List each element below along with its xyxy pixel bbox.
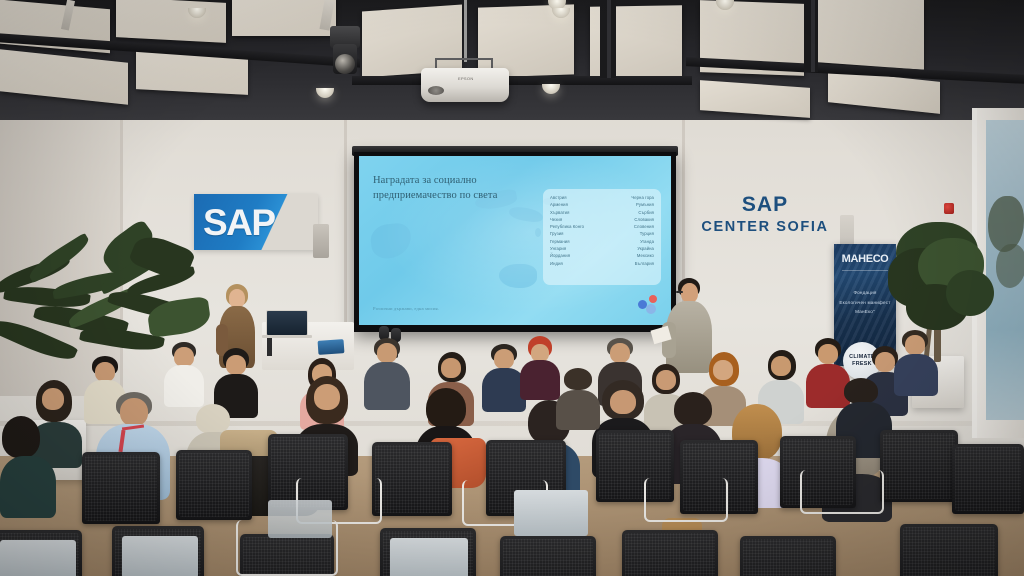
wall-signage-subtitle: CENTER SOFIA	[690, 219, 840, 235]
fire-alarm-icon	[944, 203, 954, 214]
chair-mesh	[179, 453, 249, 517]
stage-light-lens	[335, 54, 355, 74]
slide-footer-text: Различни държави, една мисия.	[373, 306, 439, 311]
head	[42, 388, 64, 410]
audience-member	[556, 368, 600, 426]
torso	[556, 390, 600, 430]
chair-frame	[644, 478, 728, 522]
head	[656, 370, 676, 390]
tablet-device[interactable]	[318, 339, 345, 355]
country-item: Чехия	[550, 217, 584, 224]
sap-logo: SAP	[194, 194, 318, 250]
torso	[894, 354, 938, 396]
ceiling-truss	[352, 76, 692, 85]
chair-mesh	[503, 539, 593, 576]
chair-seat[interactable]	[268, 500, 332, 538]
projector	[421, 68, 509, 102]
chair-frame	[800, 470, 884, 514]
chair-mesh	[903, 527, 995, 576]
presenter-laptop[interactable]	[266, 310, 308, 336]
countries-column-left: Австрия Армения Хърватия Чехия Република…	[550, 195, 584, 279]
audience-member	[894, 330, 938, 394]
banner-line: МанЕко"	[834, 307, 896, 317]
laptop-base	[262, 335, 312, 338]
outdoor-foliage	[996, 244, 1024, 288]
country-item: Унгария	[550, 246, 584, 253]
country-item: Турция	[631, 231, 654, 238]
chair[interactable]	[900, 524, 998, 576]
country-item: Словения	[631, 224, 654, 231]
hair	[674, 392, 712, 426]
head	[905, 335, 925, 355]
country-item: Мексико	[631, 253, 654, 260]
acoustic-panel	[818, 0, 924, 70]
logo-dot-lightblue	[646, 304, 656, 314]
head	[771, 356, 791, 376]
torso	[164, 365, 204, 407]
head	[441, 358, 461, 378]
wall-speaker	[313, 224, 329, 258]
slide-content: Наградата за социално предприемачество п…	[359, 156, 671, 325]
country-item: Армения	[550, 202, 584, 209]
chair[interactable]	[880, 430, 958, 502]
ceiling-truss-vertical	[600, 0, 616, 78]
country-item: Германия	[550, 239, 584, 246]
chair-mesh	[743, 539, 833, 576]
country-item: Румъния	[631, 202, 654, 209]
map-landmass	[499, 264, 537, 288]
country-item: Уганда	[631, 239, 654, 246]
audience-member	[164, 342, 204, 404]
chair-mesh	[85, 455, 157, 521]
country-item: Словакия	[631, 217, 654, 224]
head	[226, 355, 246, 375]
acoustic-panel	[116, 0, 226, 43]
chair-mesh	[883, 433, 955, 499]
chair[interactable]	[372, 442, 452, 516]
country-item: Хърватия	[550, 210, 584, 217]
audience-member	[364, 338, 410, 408]
torso	[364, 362, 410, 410]
country-item: България	[631, 261, 654, 268]
conference-room-photo: EPSON Наградата за социално предприемаче…	[0, 0, 1024, 576]
chair-mesh	[955, 447, 1021, 511]
head	[314, 384, 340, 410]
countries-column-right: Черна гора Румъния Сърбия Словакия Слове…	[631, 195, 654, 279]
country-item: Йордания	[550, 253, 584, 260]
banner-logo-text: МАНЕСО	[834, 253, 896, 265]
logo-dot-red	[649, 295, 657, 303]
chair[interactable]	[176, 450, 252, 520]
slide-title: Наградата за социално предприемачество п…	[373, 174, 533, 204]
country-item: Република Конго	[550, 224, 584, 231]
head	[120, 398, 148, 426]
projector-pole	[464, 0, 467, 62]
banner-line: Фондация	[834, 288, 896, 298]
head	[610, 390, 636, 414]
projection-screen[interactable]: Наградата за социално предприемачество п…	[354, 152, 676, 332]
sap-logo-text: SAP	[203, 204, 275, 241]
chair[interactable]	[500, 536, 596, 576]
head	[494, 349, 514, 369]
map-landmass	[508, 206, 543, 224]
chair[interactable]	[622, 530, 718, 576]
map-landmass	[535, 228, 541, 237]
chair-mesh	[375, 445, 449, 513]
torso	[520, 360, 560, 400]
country-item: Украйна	[631, 246, 654, 253]
map-landmass	[369, 222, 412, 260]
chair[interactable]	[952, 444, 1024, 514]
country-item: Австрия	[550, 195, 584, 202]
wall-signage: SAP CENTER SOFIA	[690, 193, 840, 235]
microphone-headset	[676, 291, 683, 293]
projector-brand-label: EPSON	[458, 76, 474, 81]
chair-seat[interactable]	[0, 540, 76, 576]
chair-seat[interactable]	[514, 490, 588, 536]
country-item: Черна гора	[631, 195, 654, 202]
head	[610, 343, 630, 363]
chair[interactable]	[740, 536, 836, 576]
chair[interactable]	[82, 452, 160, 524]
head	[875, 352, 895, 372]
banner-divider	[842, 270, 888, 271]
countries-list-card: Австрия Армения Хърватия Чехия Република…	[543, 189, 661, 285]
torso	[0, 456, 56, 518]
head	[818, 344, 838, 364]
hair	[564, 368, 592, 390]
chair-seat[interactable]	[122, 536, 198, 576]
head	[174, 347, 194, 367]
hair	[2, 416, 40, 458]
wall-speaker	[840, 215, 854, 245]
country-item: Грузия	[550, 231, 584, 238]
chair-mesh	[625, 533, 715, 576]
tree-canopy	[946, 270, 994, 316]
head	[95, 362, 115, 382]
head	[377, 343, 397, 363]
audience-member	[520, 336, 560, 396]
banner-body-text: Фондация Екологичен манифест МанЕко"	[834, 288, 896, 317]
slide-logo-mark	[638, 295, 660, 315]
ceiling-truss-vertical	[804, 0, 818, 72]
country-item: Индия	[550, 261, 584, 268]
chair-seat[interactable]	[390, 538, 468, 576]
audience-member	[0, 416, 56, 516]
country-item: Сърбия	[631, 210, 654, 217]
wall-signage-title: SAP	[690, 193, 840, 217]
hair	[844, 378, 878, 404]
presenter-head	[681, 283, 698, 303]
hair	[426, 388, 466, 428]
head	[713, 360, 733, 380]
banner-line: Екологичен манифест	[834, 298, 896, 308]
projector-lens	[428, 86, 444, 95]
